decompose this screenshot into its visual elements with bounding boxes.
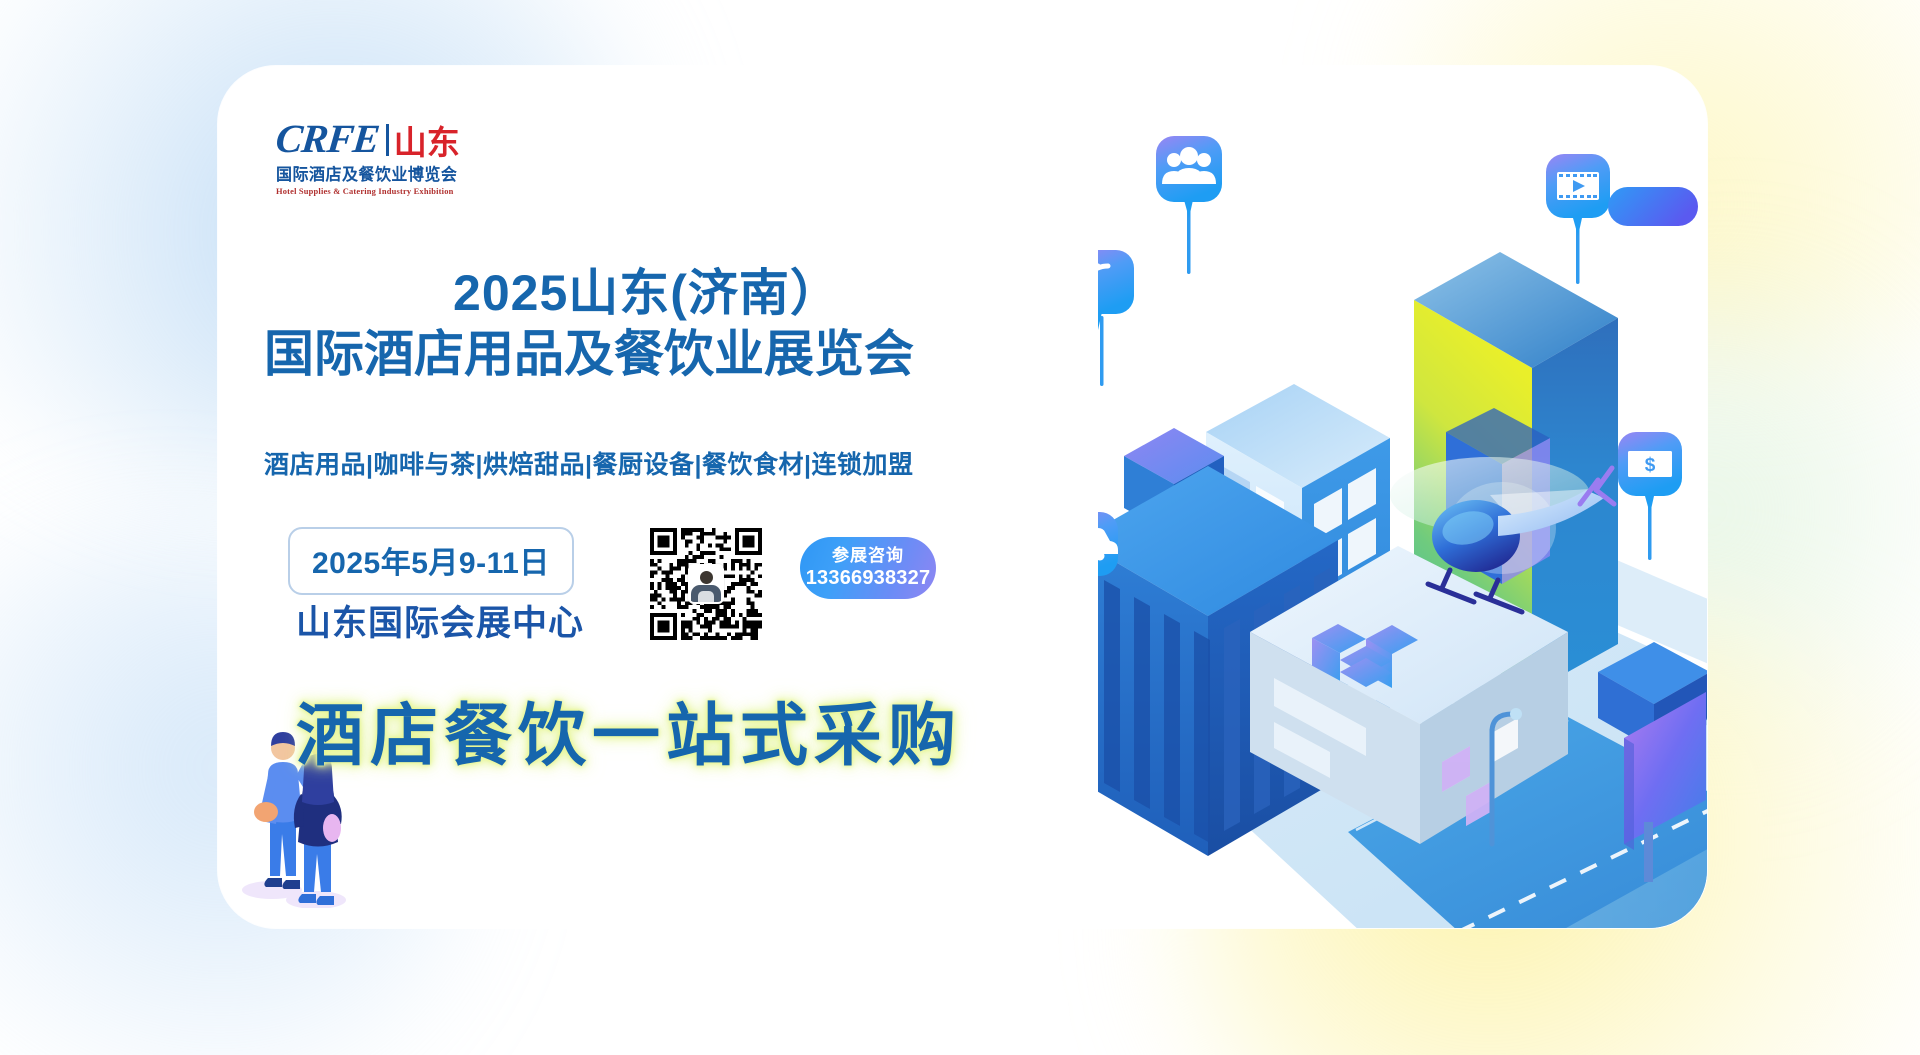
pin-people — [1156, 136, 1222, 274]
event-logo: CRFE 山东 国际酒店及餐饮业博览会 Hotel Supplies & Cat… — [276, 117, 476, 196]
pin-wifi — [1098, 250, 1134, 386]
pin-video — [1546, 154, 1610, 284]
headline-line-2: 国际酒店用品及餐饮业展览会 — [264, 324, 1024, 384]
event-venue: 山东国际会展中心 — [296, 595, 584, 646]
decor-pill — [1608, 187, 1698, 226]
event-date-text: 2025年5月9-11日 — [312, 547, 550, 580]
dollar-bill-icon: $ — [1628, 451, 1672, 477]
logo-wordmark: CRFE 山东 — [276, 117, 476, 159]
contact-bubble[interactable]: 参展咨询 13366938327 — [800, 537, 936, 599]
logo-divider — [386, 124, 389, 156]
film-play-icon — [1557, 172, 1599, 200]
category-tagline: 酒店用品|咖啡与茶|烘焙甜品|餐厨设备|餐饮食材|连锁加盟 — [264, 445, 913, 481]
headline-block: 2025山东(济南） 国际酒店用品及餐饮业展览会 — [264, 262, 1024, 384]
qr-center-avatar — [688, 564, 724, 604]
headline-line-1: 2025山东(济南） — [264, 262, 1024, 324]
pin-money: $ — [1618, 432, 1682, 560]
isometric-city-illustration: $ — [1098, 132, 1707, 928]
contact-label: 参展咨询 — [832, 546, 904, 566]
logo-subtitle-en: Hotel Supplies & Catering Industry Exhib… — [276, 186, 474, 196]
logo-brand-text: CRFE — [274, 119, 381, 159]
logo-subtitle-cn: 国际酒店及餐饮业博览会 — [276, 161, 470, 185]
svg-text:$: $ — [1645, 455, 1656, 476]
event-date-pill: 2025年5月9-11日 — [288, 527, 574, 595]
logo-region-text: 山东 — [394, 126, 460, 159]
slogan-text: 酒店餐饮一站式采购 — [296, 680, 962, 779]
banner-canvas: $ — [0, 0, 1920, 1055]
contact-phone: 13366938327 — [806, 566, 931, 590]
poster-card: $ — [218, 66, 1707, 928]
wechat-qr-code[interactable] — [650, 528, 762, 640]
